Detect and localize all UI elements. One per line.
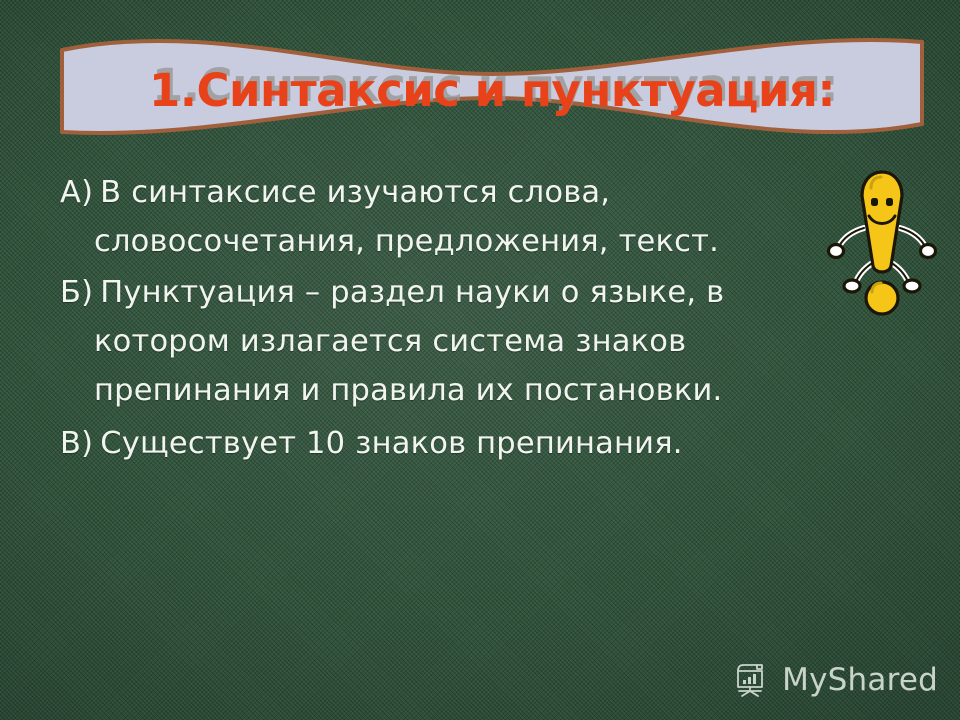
myshared-watermark-label: MyShared — [782, 665, 938, 696]
presentation-easel-icon — [733, 662, 771, 698]
body-text-c: Существует 10 знаков препинания. — [100, 426, 682, 461]
body-marker-b: Б) — [60, 275, 100, 310]
body-paragraph-a: А)В синтаксисе изучаются слова, словосоч… — [60, 168, 850, 266]
exclamation-mark-character-icon — [824, 166, 940, 316]
exclamation-mark-character-graphic — [824, 166, 940, 316]
body-text-b: Пунктуация – раздел науки о языке, в кот… — [94, 275, 724, 408]
body-text-a: В синтаксисе изучаются слова, словосочет… — [94, 175, 719, 259]
body-marker-c: В) — [60, 426, 100, 461]
body-marker-a: А) — [60, 175, 100, 210]
title-banner: 1.Синтаксис и пунктуация: — [58, 28, 926, 146]
body-paragraph-b: Б)Пунктуация – раздел науки о языке, в к… — [60, 268, 850, 415]
slide-title: 1.Синтаксис и пунктуация: — [58, 31, 926, 149]
slide-body: А)В синтаксисе изучаются слова, словосоч… — [60, 168, 850, 470]
myshared-watermark: MyShared — [733, 662, 938, 698]
body-paragraph-c: В)Существует 10 знаков препинания. — [60, 419, 850, 468]
presentation-slide: 1.Синтаксис и пунктуация: А)В синтаксисе… — [0, 0, 960, 720]
